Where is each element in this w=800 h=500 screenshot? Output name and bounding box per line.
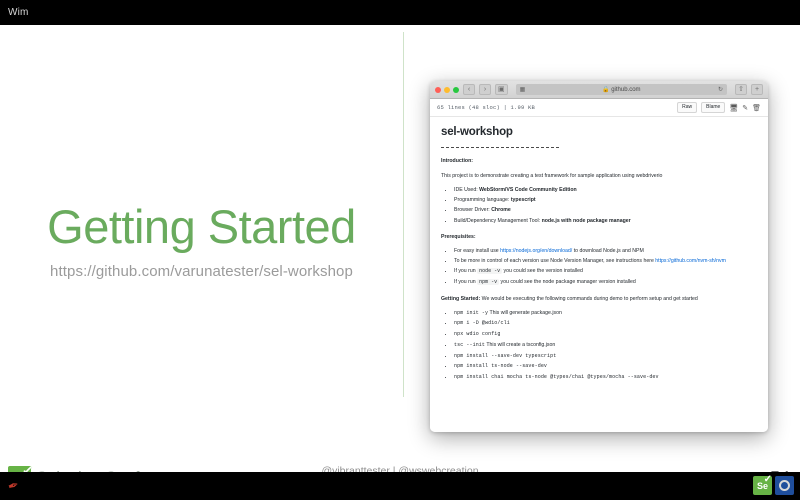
item-text: If you run (454, 268, 477, 274)
prerequisites-label: Prerequisites: (441, 233, 757, 241)
taskbar: ✒ Se✓ (0, 472, 800, 500)
list-item: npm install --save-dev typescript (454, 351, 757, 362)
list-item: npx wdio config (454, 329, 757, 340)
getting-started-label: Getting Started: (441, 296, 480, 302)
item-text: To be more in control of each version us… (454, 258, 655, 264)
trash-icon[interactable]: 🗑 (752, 104, 761, 112)
list-item: Browser Driver: Chrome (454, 205, 757, 215)
window-title: Wim (8, 7, 29, 18)
address-bar[interactable]: ▦ 🔒 github.com ↻ (516, 84, 727, 95)
browser-window: ‹ › ▣ ▦ 🔒 github.com ↻ ⇧ + 65 lines (48 … (430, 81, 768, 432)
command-text: npm i -D @wdio/cli (454, 320, 510, 326)
item-label: Build/Dependency Management Tool: (454, 218, 542, 224)
command-text: npm install chai mocha ts-node @types/ch… (454, 374, 659, 380)
item-label: IDE Used: (454, 187, 479, 193)
slide-divider (403, 32, 404, 397)
list-item: Programming language: typescript (454, 195, 757, 205)
command-note: This will create a tsconfig.json (485, 342, 555, 348)
desktop-icon[interactable]: 🖥 (729, 104, 738, 112)
external-link[interactable]: https://nodejs.org/en/download/ (500, 248, 572, 254)
item-value: Chrome (491, 207, 511, 213)
external-link[interactable]: https://github.com/nvm-sh/nvm (655, 258, 726, 264)
browser-chrome: ‹ › ▣ ▦ 🔒 github.com ↻ ⇧ + (430, 81, 768, 99)
new-tab-button[interactable]: + (751, 84, 763, 95)
checkmark-icon: ✓ (21, 462, 34, 472)
share-button[interactable]: ⇧ (735, 84, 747, 95)
item-text: For easy install use (454, 248, 500, 254)
command-text: npm install --save-dev typescript (454, 353, 556, 359)
prerequisites-list: For easy install use https://nodejs.org/… (441, 246, 757, 288)
item-text-trailing: you could see the version installed (502, 268, 583, 274)
item-label: Programming language: (454, 197, 511, 203)
inline-code: npm -v (477, 279, 499, 285)
sidebar-toggle-button[interactable]: ▣ (495, 84, 508, 95)
file-stats: 65 lines (48 sloc) | 1.99 KB (437, 104, 535, 111)
camera-icon[interactable] (775, 476, 794, 495)
item-value: node.js with node package manager (542, 218, 631, 224)
file-toolbar: 65 lines (48 sloc) | 1.99 KB Raw Blame 🖥… (430, 99, 768, 117)
slide-title-block: Getting Started https://github.com/varun… (0, 200, 403, 280)
list-item: npm install ts-node --save-dev (454, 361, 757, 372)
command-text: npm install ts-node --save-dev (454, 363, 547, 369)
pencil-icon[interactable]: ✎ (742, 104, 748, 112)
selenium-icon[interactable]: Se✓ (753, 476, 772, 495)
list-item: npm init -y This will generate package.j… (454, 308, 757, 319)
presentation-slide: Getting Started https://github.com/varun… (0, 25, 800, 472)
item-text-trailing: you could see the node package manager v… (499, 279, 636, 285)
address-bar-text: 🔒 github.com (602, 86, 641, 93)
list-item: Build/Dependency Management Tool: node.j… (454, 216, 757, 226)
item-label: Browser Driver: (454, 207, 491, 213)
introduction-label: Introduction: (441, 157, 757, 165)
file-actions: Raw Blame 🖥 ✎ 🗑 (677, 102, 761, 114)
introduction-list: IDE Used: WebStorm/VS Code Community Edi… (441, 185, 757, 226)
list-item: If you run npm -v you could see the node… (454, 277, 757, 288)
list-item: To be more in control of each version us… (454, 256, 757, 266)
maximize-icon[interactable] (453, 87, 459, 93)
command-text: npx wdio config (454, 331, 501, 337)
list-item: npm i -D @wdio/cli (454, 318, 757, 329)
close-icon[interactable] (435, 87, 441, 93)
command-note: This will generate package.json (488, 310, 562, 316)
item-value: typescript (511, 197, 536, 203)
readme-content: sel-workshop Introduction: This project … (430, 117, 768, 432)
minimize-icon[interactable] (444, 87, 450, 93)
commands-list: npm init -y This will generate package.j… (441, 308, 757, 383)
getting-started-paragraph: Getting Started: We would be executing t… (441, 295, 757, 303)
list-item: tsc --init This will create a tsconfig.j… (454, 340, 757, 351)
repo-url: https://github.com/varunatester/sel-work… (0, 263, 403, 280)
checkmark-icon: ✓ (764, 474, 772, 485)
feather-icon[interactable]: ✒ (6, 477, 22, 496)
readme-divider (441, 146, 561, 150)
forward-button[interactable]: › (479, 84, 491, 95)
blame-button[interactable]: Blame (701, 102, 725, 114)
command-text: npm init -y (454, 310, 488, 316)
taskbar-tray: Se✓ (753, 476, 794, 495)
introduction-text: This project is to demonstrate creating … (441, 172, 757, 180)
back-button[interactable]: ‹ (463, 84, 475, 95)
list-item: If you run node -v you could see the ver… (454, 266, 757, 277)
tab-icon: ▦ (520, 86, 526, 93)
traffic-lights (435, 87, 459, 93)
getting-started-text: We would be executing the following comm… (480, 296, 698, 302)
page-title: Getting Started (0, 200, 403, 254)
item-text: If you run (454, 279, 477, 285)
raw-button[interactable]: Raw (677, 102, 697, 114)
command-text: tsc --init (454, 342, 485, 348)
window-titlebar: Wim (0, 0, 800, 25)
readme-heading: sel-workshop (441, 126, 757, 138)
list-item: IDE Used: WebStorm/VS Code Community Edi… (454, 185, 757, 195)
inline-code: node -v (477, 268, 502, 274)
reload-icon[interactable]: ↻ (718, 86, 723, 93)
item-value: WebStorm/VS Code Community Edition (479, 187, 577, 193)
list-item: For easy install use https://nodejs.org/… (454, 246, 757, 256)
screen: Wim Getting Started https://github.com/v… (0, 0, 800, 500)
item-text-trailing: to download Node.js and NPM (572, 248, 644, 254)
list-item: npm install chai mocha ts-node @types/ch… (454, 372, 757, 383)
